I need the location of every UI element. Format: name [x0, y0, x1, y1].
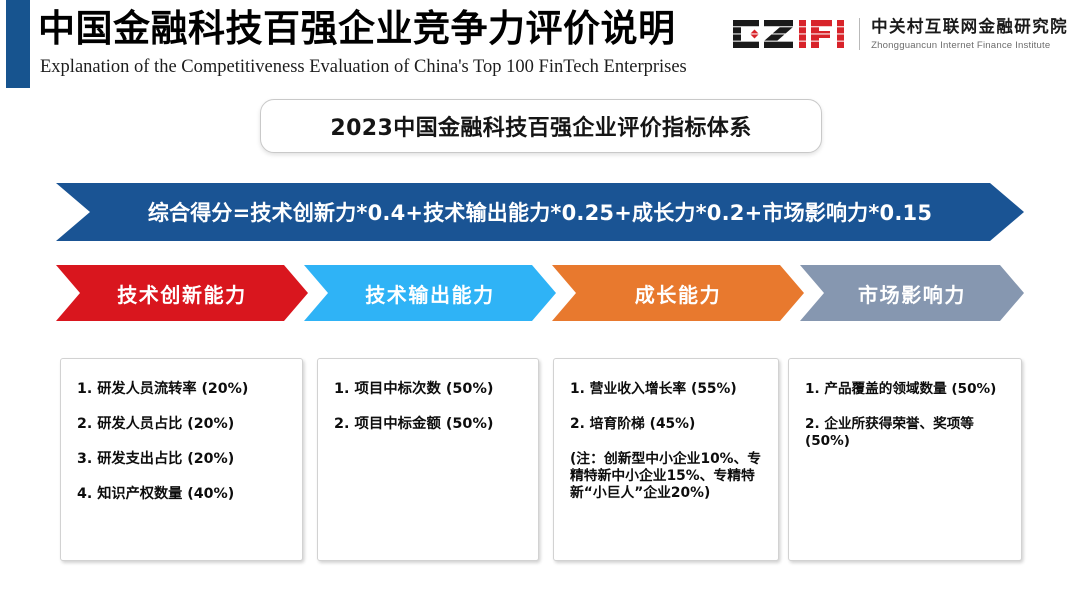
- indicator-detail-row: 1. 研发人员流转率 (20%) 2. 研发人员占比 (20%) 3. 研发支出…: [60, 358, 1022, 563]
- slide-header: 中国金融科技百强企业竞争力评价说明 Explanation of the Com…: [0, 0, 1080, 92]
- indicator-item: 2. 项目中标金额 (50%): [334, 416, 526, 433]
- dimension-chevron-innovation[interactable]: 技术创新能力: [56, 265, 308, 321]
- indicator-item: 2. 企业所获得荣誉、奖项等 (50%): [805, 416, 1009, 450]
- indicator-item: 1. 研发人员流转率 (20%): [77, 381, 290, 398]
- indicator-item: 1. 营业收入增长率 (55%): [570, 381, 766, 398]
- logo-text-block: 中关村互联网金融研究院 Zhongguancun Internet Financ…: [871, 17, 1068, 52]
- slide-canvas: 中国金融科技百强企业竞争力评价说明 Explanation of the Com…: [0, 0, 1080, 608]
- indicator-item: 2. 研发人员占比 (20%): [77, 416, 290, 433]
- dimension-chevron-growth[interactable]: 成长能力: [552, 265, 804, 321]
- dimension-chevron-output[interactable]: 技术输出能力: [304, 265, 556, 321]
- indicator-item: 1. 产品覆盖的领域数量 (50%): [805, 381, 1009, 398]
- logo-divider: [859, 18, 860, 50]
- indicator-box-output: 1. 项目中标次数 (50%) 2. 项目中标金额 (50%): [317, 358, 539, 561]
- indicator-item: 3. 研发支出占比 (20%): [77, 451, 290, 468]
- dimension-chevron-row: 技术创新能力 技术输出能力 成长能力 市场影响力: [56, 265, 1024, 321]
- subject-title-label: 2023中国金融科技百强企业评价指标体系: [330, 110, 751, 142]
- logo-name-en: Zhongguancun Internet Finance Institute: [871, 39, 1068, 52]
- page-title-zh: 中国金融科技百强企业竞争力评价说明: [38, 6, 676, 50]
- indicator-box-innovation: 1. 研发人员流转率 (20%) 2. 研发人员占比 (20%) 3. 研发支出…: [60, 358, 303, 561]
- czifi-logomark-icon: [731, 19, 847, 49]
- logo-name-zh: 中关村互联网金融研究院: [871, 17, 1068, 37]
- dimension-chevron-market[interactable]: 市场影响力: [800, 265, 1024, 321]
- indicator-note: (注：创新型中小企业10%、专精特新中小企业15%、专精特新“小巨人”企业20%…: [570, 451, 766, 502]
- dimension-label: 技术输出能力: [365, 279, 495, 308]
- dimension-label: 技术创新能力: [117, 279, 247, 308]
- indicator-item: 4. 知识产权数量 (40%): [77, 486, 290, 503]
- dimension-label: 市场影响力: [858, 279, 966, 308]
- institute-logo: 中关村互联网金融研究院 Zhongguancun Internet Financ…: [731, 10, 1068, 58]
- indicator-item: 1. 项目中标次数 (50%): [334, 381, 526, 398]
- indicator-item: 2. 培育阶梯 (45%): [570, 416, 766, 433]
- score-formula-text: 综合得分=技术创新力*0.4+技术输出能力*0.25+成长力*0.2+市场影响力…: [148, 197, 932, 227]
- indicator-box-growth: 1. 营业收入增长率 (55%) 2. 培育阶梯 (45%) (注：创新型中小企…: [553, 358, 779, 561]
- subject-title-box: 2023中国金融科技百强企业评价指标体系: [260, 99, 822, 153]
- dimension-label: 成长能力: [635, 279, 721, 308]
- header-accent-bar: [6, 0, 30, 88]
- page-title-en: Explanation of the Competitiveness Evalu…: [40, 56, 687, 78]
- indicator-box-market: 1. 产品覆盖的领域数量 (50%) 2. 企业所获得荣誉、奖项等 (50%): [788, 358, 1022, 561]
- score-formula-banner: 综合得分=技术创新力*0.4+技术输出能力*0.25+成长力*0.2+市场影响力…: [56, 183, 1024, 241]
